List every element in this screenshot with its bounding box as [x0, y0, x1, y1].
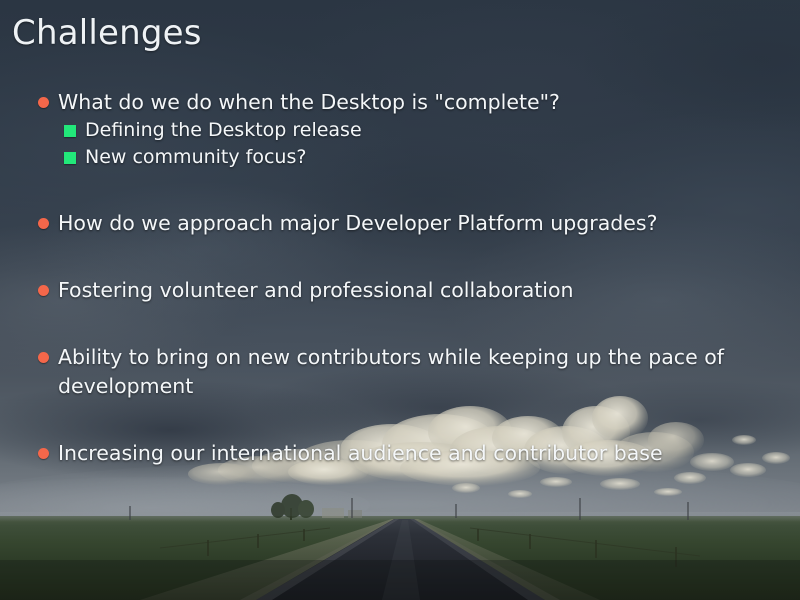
bullet-dot-icon: [38, 448, 49, 459]
bullet-text: How do we approach major Developer Platf…: [58, 211, 658, 235]
bullet-item-level1: Increasing our international audience an…: [0, 439, 800, 468]
bullet-dot-icon: [38, 218, 49, 229]
bullet-spacer: [0, 401, 800, 439]
bullet-dot-icon: [38, 285, 49, 296]
bullet-dot-icon: [38, 352, 49, 363]
slide-content: Challenges What do we do when the Deskto…: [0, 0, 800, 600]
bullet-item-level1: Ability to bring on new contributors whi…: [0, 343, 800, 401]
bullet-item-level1: How do we approach major Developer Platf…: [0, 209, 800, 238]
bullet-item-level2: New community focus?: [0, 144, 800, 171]
bullet-square-icon: [64, 152, 76, 164]
bullet-list: What do we do when the Desktop is "compl…: [0, 88, 800, 468]
bullet-item-level1: Fostering volunteer and professional col…: [0, 276, 800, 305]
bullet-text: Increasing our international audience an…: [58, 441, 663, 465]
bullet-item-level2: Defining the Desktop release: [0, 117, 800, 144]
bullet-text: Ability to bring on new contributors whi…: [58, 345, 724, 398]
bullet-text: New community focus?: [85, 146, 306, 168]
bullet-text: Defining the Desktop release: [85, 119, 362, 141]
bullet-square-icon: [64, 125, 76, 137]
bullet-text: Fostering volunteer and professional col…: [58, 278, 574, 302]
slide-title: Challenges: [12, 12, 202, 54]
bullet-spacer: [0, 305, 800, 343]
presentation-slide: Challenges What do we do when the Deskto…: [0, 0, 800, 600]
bullet-spacer: [0, 171, 800, 209]
bullet-dot-icon: [38, 97, 49, 108]
bullet-text: What do we do when the Desktop is "compl…: [58, 90, 560, 114]
bullet-spacer: [0, 238, 800, 276]
bullet-item-level1: What do we do when the Desktop is "compl…: [0, 88, 800, 117]
